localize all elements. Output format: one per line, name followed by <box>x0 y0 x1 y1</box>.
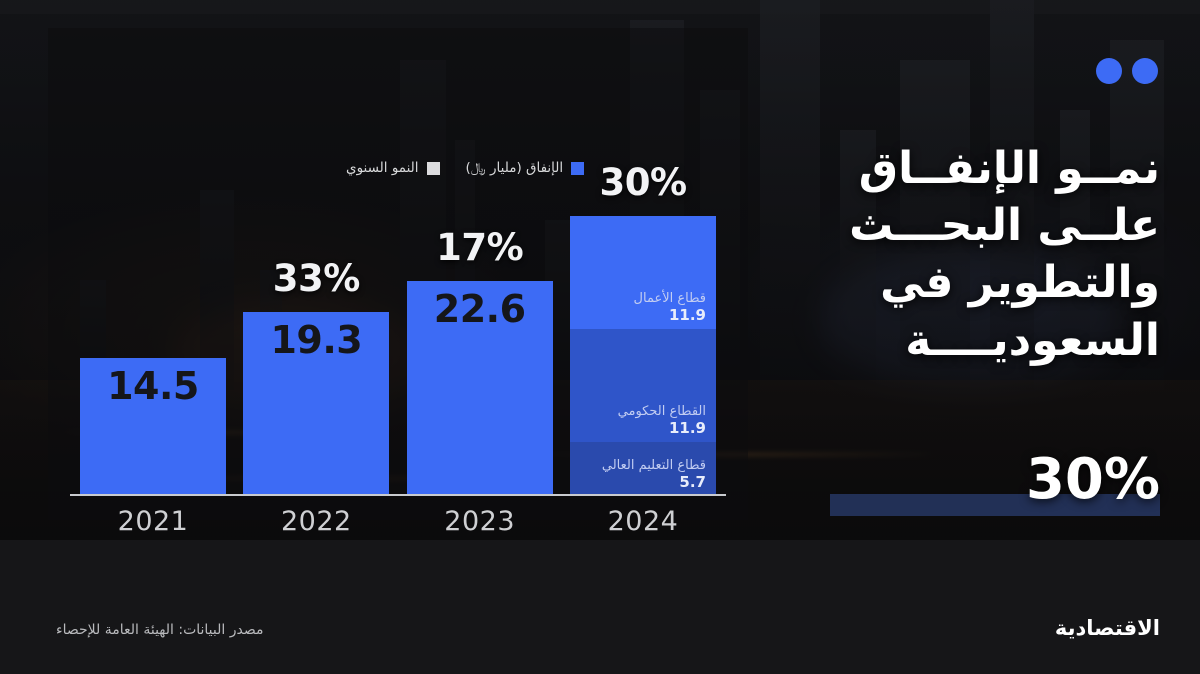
x-axis-label-2021: 2021 <box>80 506 226 537</box>
legend-item-spending: الإنفاق (مليار ﷼) <box>466 160 585 176</box>
bar-segment-government: القطاع الحكومي 11.9 <box>570 329 716 442</box>
bar-column-2022: 33% 19.3 <box>243 196 389 496</box>
chart-panel: الإنفاق (مليار ﷼) النمو السنوي 14.5 33% <box>48 28 748 520</box>
segment-value-government: 11.9 <box>618 420 706 437</box>
growth-label-2023: 17% <box>407 226 553 269</box>
data-source-note: مصدر البيانات: الهيئة العامة للإحصاء <box>56 622 263 638</box>
headline-line-2: علــى البحـــث <box>780 197 1160 254</box>
brand-dot-icon <box>1096 58 1122 84</box>
publisher-logo: الاقتصادية <box>1055 616 1160 640</box>
bar-2023: 22.6 <box>407 281 553 496</box>
segment-name-higher-education: قطاع التعليم العالي <box>602 459 706 474</box>
x-axis-label-2024: 2024 <box>570 506 716 537</box>
bar-value-2021: 14.5 <box>80 364 226 408</box>
segment-label-higher-education: قطاع التعليم العالي 5.7 <box>602 459 706 491</box>
brand-dots-mark <box>1096 58 1158 84</box>
headline-block: نمــو الإنفــاق علــى البحـــث والتطوير … <box>780 140 1160 369</box>
brand-dot-icon <box>1132 58 1158 84</box>
bar-2021: 14.5 <box>80 358 226 496</box>
legend-label-spending: الإنفاق (مليار ﷼) <box>466 160 564 176</box>
kpi-block: 30% <box>780 452 1160 516</box>
segment-name-government: القطاع الحكومي <box>618 405 706 420</box>
legend-label-growth: النمو السنوي <box>346 160 419 176</box>
legend-item-growth: النمو السنوي <box>346 160 440 176</box>
x-axis-labels: 2021 2022 2023 2024 <box>70 506 726 537</box>
bar-value-2022: 19.3 <box>243 318 389 362</box>
bar-column-2021: 14.5 <box>80 196 226 496</box>
bar-2024-stacked: 29.5 قطاع الأعمال 11.9 القطاع الحكومي 11… <box>570 216 716 496</box>
bar-column-2023: 17% 22.6 <box>407 196 553 496</box>
bar-value-2023: 22.6 <box>407 287 553 331</box>
legend-swatch-icon-growth <box>427 162 440 175</box>
segment-value-business: 11.9 <box>634 307 706 324</box>
bar-segment-business: قطاع الأعمال 11.9 <box>570 216 716 329</box>
headline-line-4: السعوديــــة <box>780 312 1160 369</box>
bar-2022: 19.3 <box>243 312 389 496</box>
segment-label-business: قطاع الأعمال 11.9 <box>634 292 706 324</box>
growth-label-2022: 33% <box>243 257 389 300</box>
x-axis-label-2022: 2022 <box>243 506 389 537</box>
infographic-canvas: الإنفاق (مليار ﷼) النمو السنوي 14.5 33% <box>0 0 1200 674</box>
segment-label-government: القطاع الحكومي 11.9 <box>618 405 706 437</box>
segment-value-higher-education: 5.7 <box>602 474 706 491</box>
bar-column-2024: 30% 29.5 قطاع الأعمال 11.9 القطاع الحكوم… <box>570 196 716 496</box>
bar-series: 14.5 33% 19.3 17% 22.6 <box>80 196 716 496</box>
headline-line-3: والتطوير في <box>780 254 1160 311</box>
x-axis-label-2023: 2023 <box>407 506 553 537</box>
bar-segment-higher-education: قطاع التعليم العالي 5.7 <box>570 442 716 496</box>
segment-name-business: قطاع الأعمال <box>634 292 706 307</box>
footer-band <box>0 540 1200 674</box>
x-axis-line <box>70 494 726 496</box>
headline-line-1: نمــو الإنفــاق <box>780 140 1160 197</box>
growth-label-2024: 30% <box>570 161 716 204</box>
bar-chart-plot: 14.5 33% 19.3 17% 22.6 <box>70 196 726 496</box>
